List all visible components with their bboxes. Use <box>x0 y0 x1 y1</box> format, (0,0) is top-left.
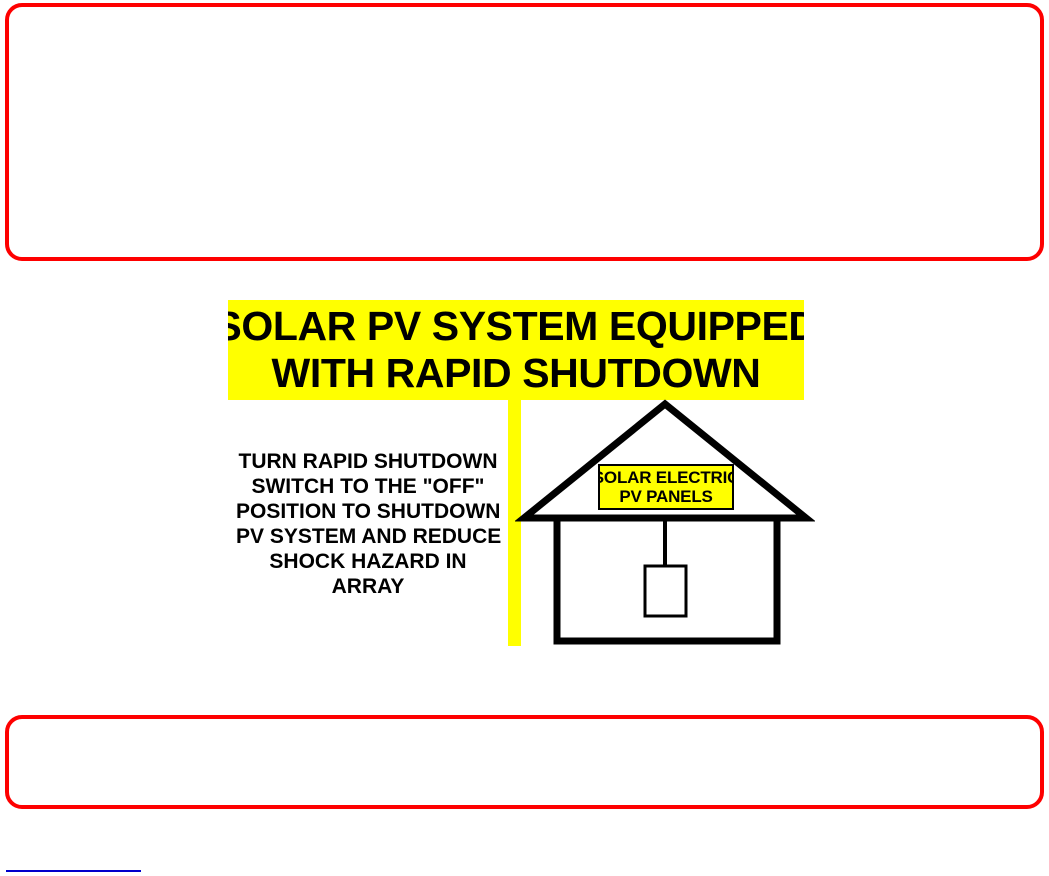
instruction-line: SHOCK HAZARD IN <box>236 549 500 574</box>
instruction-line: TURN RAPID SHUTDOWN <box>236 449 500 474</box>
bottom-red-placeholder-box <box>5 715 1044 809</box>
shutdown-instructions-block: TURN RAPID SHUTDOWN SWITCH TO THE "OFF" … <box>236 449 500 599</box>
rapid-shutdown-banner: SOLAR PV SYSTEM EQUIPPED WITH RAPID SHUT… <box>228 300 804 400</box>
banner-line-2: WITH RAPID SHUTDOWN <box>272 350 761 397</box>
instruction-line: POSITION TO SHUTDOWN <box>236 499 500 524</box>
inverter-box-icon <box>645 566 686 616</box>
bottom-blue-rule <box>6 870 141 872</box>
instruction-line: ARRAY <box>236 574 500 599</box>
instruction-line: PV SYSTEM AND REDUCE <box>236 524 500 549</box>
panel-label-line-2: PV PANELS <box>619 487 712 506</box>
top-red-placeholder-box <box>5 3 1044 261</box>
panel-label-line-1: SOLAR ELECTRIC <box>598 468 734 487</box>
solar-panel-label: SOLAR ELECTRIC PV PANELS <box>598 464 734 510</box>
banner-line-1: SOLAR PV SYSTEM EQUIPPED <box>228 303 804 350</box>
house-solar-diagram <box>515 395 815 655</box>
instruction-line: SWITCH TO THE "OFF" <box>236 474 500 499</box>
